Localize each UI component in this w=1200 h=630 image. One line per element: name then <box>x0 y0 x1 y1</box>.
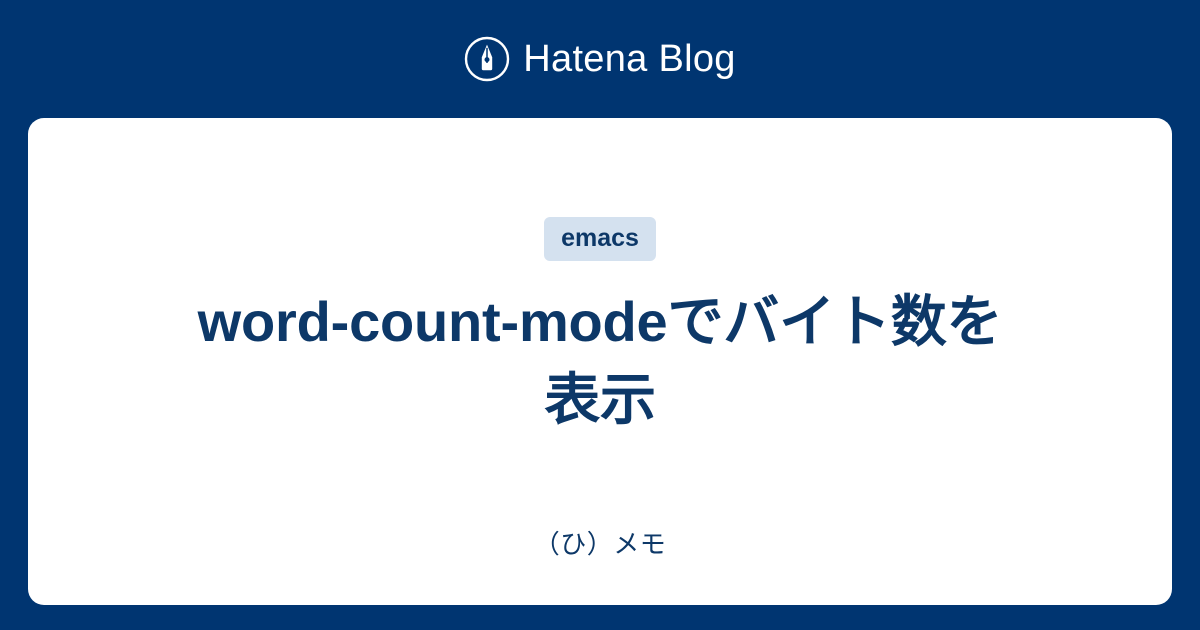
service-header: Hatena Blog <box>0 0 1200 118</box>
blog-name: （ひ）メモ <box>28 528 1172 562</box>
entry-tag-row: emacs <box>544 217 656 261</box>
entry-title: word-count-modeでバイト数を表示 <box>170 283 1030 439</box>
open-graph-card: Hatena Blog emacs word-count-modeでバイト数を表… <box>0 0 1200 630</box>
entry-card: emacs word-count-modeでバイト数を表示 （ひ）メモ <box>28 118 1172 605</box>
pen-nib-in-circle-icon <box>464 36 510 82</box>
entry-category-tag[interactable]: emacs <box>544 217 656 261</box>
entry-card-content: emacs word-count-modeでバイト数を表示 <box>28 118 1172 439</box>
service-name: Hatena Blog <box>523 40 735 78</box>
